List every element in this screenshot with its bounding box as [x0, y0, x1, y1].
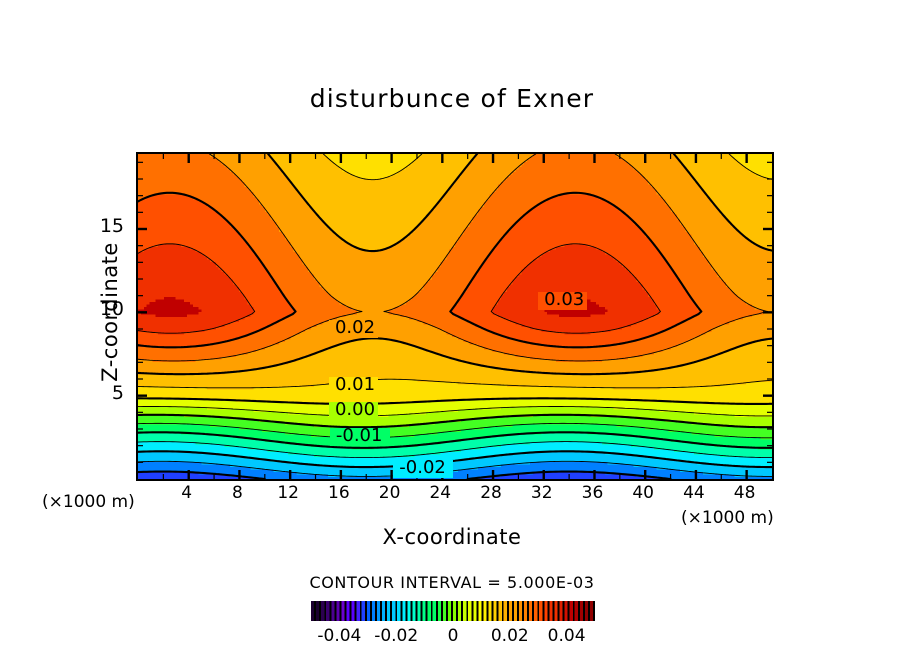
y-tick-label: 10	[84, 298, 124, 320]
y-tick-label: 15	[84, 215, 124, 237]
colorbar-gradient	[311, 601, 595, 621]
x-axis-title: X-coordinate	[0, 525, 904, 549]
x-axis-unit: (×1000 m)	[681, 508, 774, 528]
colorbar	[311, 601, 595, 621]
contour-plot-area: 0.030.020.010.00-0.01-0.02	[136, 152, 774, 481]
x-tick-label: 40	[621, 483, 665, 503]
x-tick-label: 32	[520, 483, 564, 503]
contour-interval-label: CONTOUR INTERVAL = 5.000E-03	[0, 573, 904, 592]
x-tick-label: 12	[266, 483, 310, 503]
colorbar-tick-label: 0	[423, 626, 483, 646]
contour-label: 0.00	[332, 401, 378, 419]
x-tick-label: 28	[469, 483, 513, 503]
x-tick-label: 24	[418, 483, 462, 503]
chart-title: disturbunce of Exner	[0, 84, 904, 113]
colorbar-tick-label: -0.04	[309, 626, 369, 646]
colorbar-tick-label: -0.02	[366, 626, 426, 646]
contour-label: 0.01	[332, 376, 378, 394]
x-tick-label: 20	[368, 483, 412, 503]
chart-canvas: disturbunce of Exner 0.030.020.010.00-0.…	[0, 0, 904, 654]
y-tick-label: 5	[84, 382, 124, 404]
contour-field	[138, 154, 772, 479]
x-tick-label: 4	[165, 483, 209, 503]
contour-label: -0.02	[396, 459, 449, 477]
x-tick-label: 44	[672, 483, 716, 503]
y-axis-unit: (×1000 m)	[42, 492, 135, 512]
colorbar-tick-label: 0.04	[537, 626, 597, 646]
contour-label: 0.03	[541, 291, 587, 309]
x-tick-label: 8	[215, 483, 259, 503]
x-tick-label: 48	[723, 483, 767, 503]
x-tick-label: 16	[317, 483, 361, 503]
x-tick-label: 36	[570, 483, 614, 503]
colorbar-tick-label: 0.02	[480, 626, 540, 646]
contour-label: -0.01	[333, 427, 386, 445]
contour-label: 0.02	[332, 319, 378, 337]
